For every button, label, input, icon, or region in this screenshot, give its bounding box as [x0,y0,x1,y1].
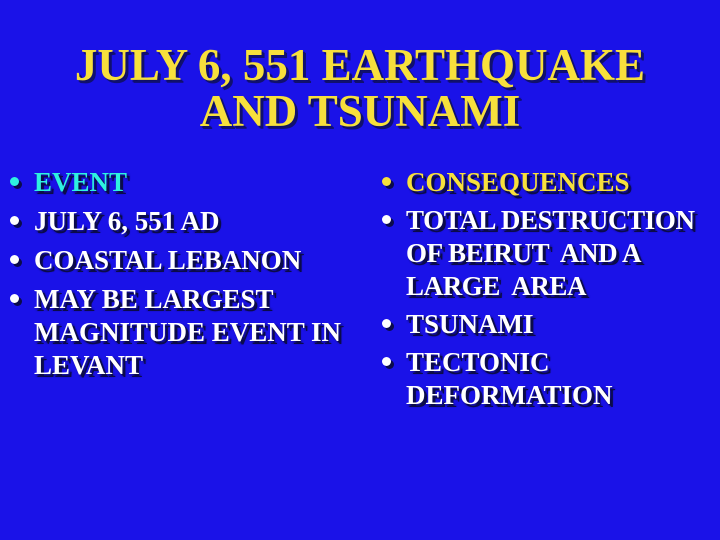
bullet-dot-icon [382,357,391,366]
bullet-text: TECTONIC DEFORMATION [406,346,720,412]
bullet-text: CONSEQUENCES [406,166,720,199]
slide-title: JULY 6, 551 EARTHQUAKE AND TSUNAMI [0,42,720,134]
list-item: TOTAL DESTRUCTION OF BEIRUT AND A LARGE … [376,204,720,303]
list-item: COASTAL LEBANON [6,244,358,277]
bullet-dot-icon [10,177,19,186]
bullet-text: TSUNAMI [406,308,720,341]
list-item: JULY 6, 551 AD [6,205,358,238]
bullet-text: TOTAL DESTRUCTION OF BEIRUT AND A LARGE … [406,204,720,303]
bullet-text: MAY BE LARGEST MAGNITUDE EVENT IN LEVANT [34,283,358,382]
bullet-text: EVENT [34,166,358,199]
bullet-dot-icon [382,319,391,328]
bullet-text: JULY 6, 551 AD [34,205,358,238]
list-item: MAY BE LARGEST MAGNITUDE EVENT IN LEVANT [6,283,358,382]
slide-title-line-2: AND TSUNAMI [0,88,720,134]
slide-title-line-1: JULY 6, 551 EARTHQUAKE [0,42,720,88]
bullet-dot-icon [10,255,19,264]
bullet-dot-icon [10,294,19,303]
right-bullet-column: CONSEQUENCES TOTAL DESTRUCTION OF BEIRUT… [376,166,720,417]
list-item: TSUNAMI [376,308,720,341]
bullet-dot-icon [382,215,391,224]
presentation-slide: JULY 6, 551 EARTHQUAKE AND TSUNAMI EVENT… [0,0,720,540]
list-item: CONSEQUENCES [376,166,720,199]
bullet-dot-icon [10,216,19,225]
bullet-dot-icon [382,177,391,186]
bullet-text: COASTAL LEBANON [34,244,358,277]
left-bullet-column: EVENT JULY 6, 551 AD COASTAL LEBANON MAY… [6,166,358,388]
list-item: TECTONIC DEFORMATION [376,346,720,412]
list-item: EVENT [6,166,358,199]
